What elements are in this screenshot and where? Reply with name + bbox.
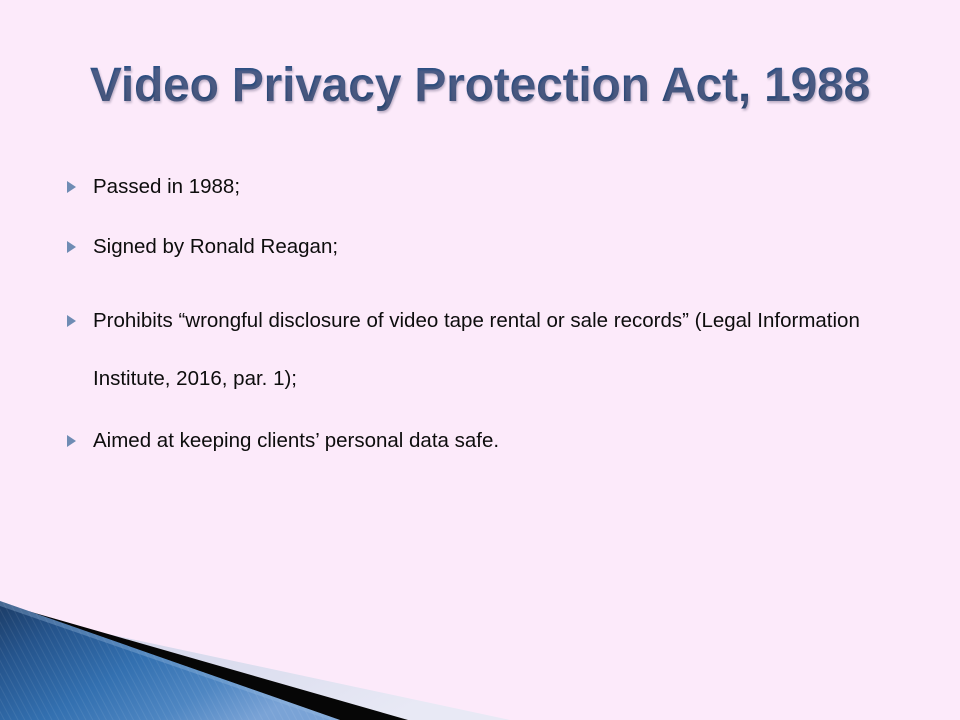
triangle-right-bullet-icon [67,435,76,447]
page-title: Video Privacy Protection Act, 1988 [90,58,870,113]
list-item-text: Passed in 1988; [93,172,890,202]
list-item: Passed in 1988; [60,172,890,202]
triangle-right-bullet-icon [67,181,76,193]
list-item: Signed by Ronald Reagan; [60,232,890,262]
corner-diagonal-banner-decoration [0,585,540,720]
triangle-right-bullet-icon [67,315,76,327]
blue-triangle-texture [0,601,340,720]
list-item: Aimed at keeping clients’ personal data … [60,426,890,456]
list-item-text: Signed by Ronald Reagan; [93,232,890,262]
triangle-right-bullet-icon [67,241,76,253]
presentation-slide: Video Privacy Protection Act, 1988 Passe… [0,0,960,720]
corner-banner-svg [0,585,540,720]
list-item: Prohibits “wrongful disclosure of video … [60,292,890,408]
list-item-text: Prohibits “wrongful disclosure of video … [93,292,890,408]
light-band-shape [0,611,510,720]
slide-title-block: Video Privacy Protection Act, 1988 [0,58,960,113]
blue-triangle-shape [0,601,340,720]
blue-edge-highlight [0,601,340,720]
slide-body-bullet-list: Passed in 1988; Signed by Ronald Reagan;… [60,172,890,486]
list-item-text: Aimed at keeping clients’ personal data … [93,426,890,456]
black-band-shape [0,603,408,720]
